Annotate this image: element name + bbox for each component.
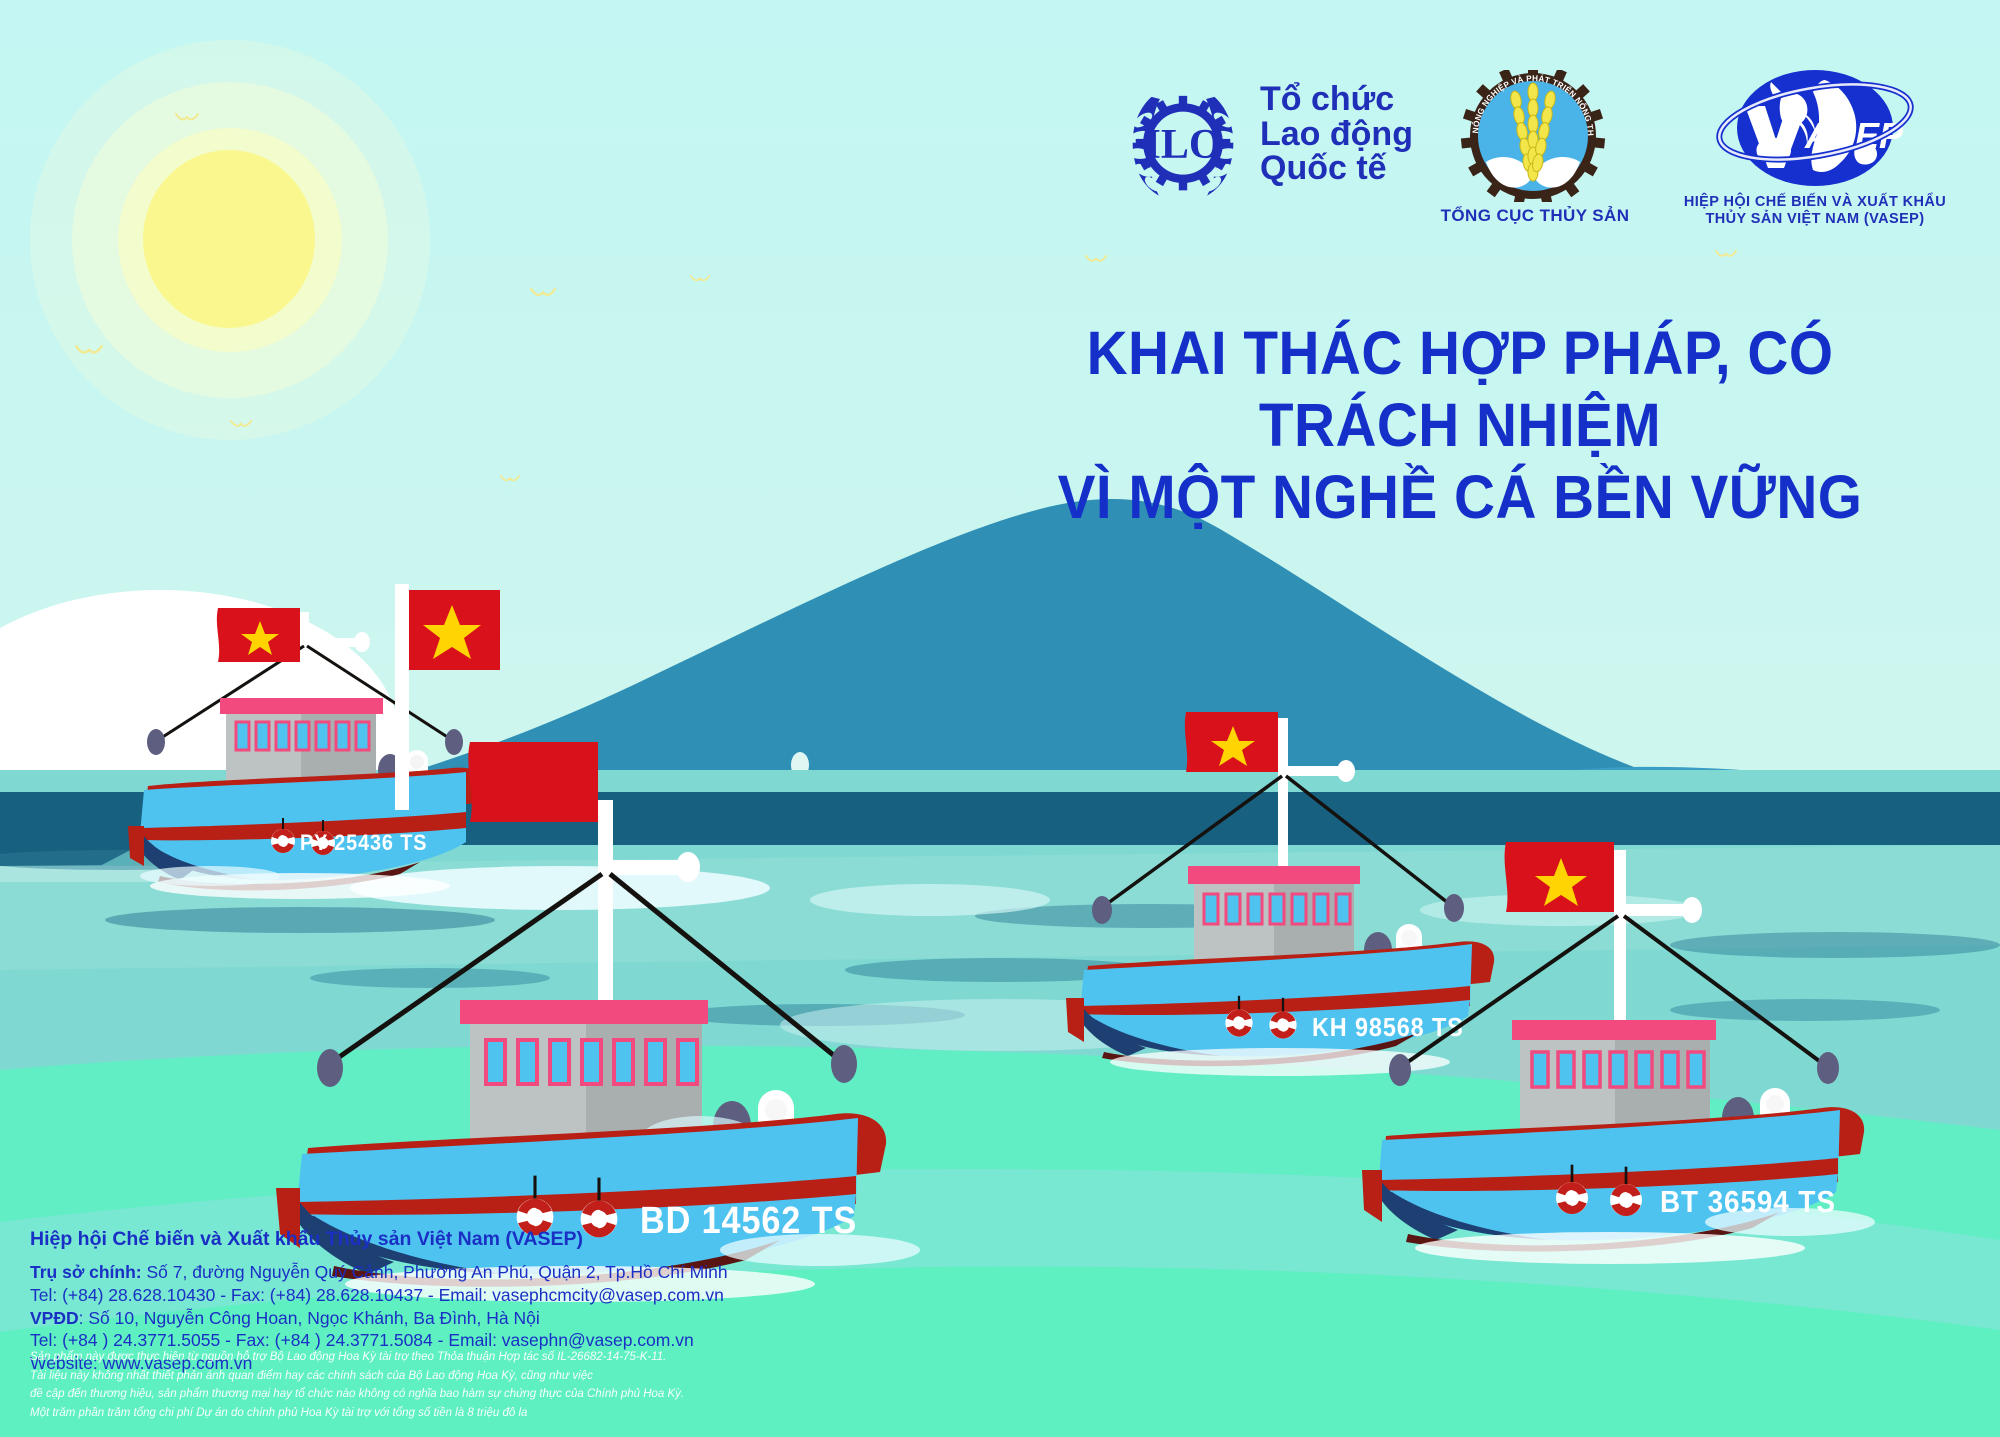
disclaimer-line-3: đề cập đến thương hiệu, sản phẩm thương … — [30, 1385, 1330, 1404]
logo-vasep-caption: HIỆP HỘI CHẾ BIẾN VÀ XUẤT KHẨU THỦY SẢN … — [1665, 194, 1965, 228]
bird-icon — [1085, 255, 1107, 266]
life-ring-icon — [1222, 1006, 1256, 1040]
logo-fisheries: BỘ NÔNG NGHIỆP VÀ PHÁT TRIỂN NÔNG THÔN T… — [1420, 70, 1650, 240]
page-title: KHAI THÁC HỢP PHÁP, CÓ TRÁCH NHIỆM VÌ MỘ… — [1032, 318, 1888, 534]
poster-canvas: ILO Tổ chức Lao động Quốc tế — [0, 0, 2000, 1437]
title-line-2: VÌ MỘT NGHỀ CÁ BỀN VỮNG — [1032, 462, 1888, 534]
logo-bar: ILO Tổ chức Lao động Quốc tế — [1120, 60, 1960, 240]
footer-hq-line: Trụ sở chính: Số 7, đường Nguyễn Quý Cản… — [30, 1261, 1280, 1284]
vasep-caption-line-2: THỦY SẢN VIỆT NAM (VASEP) — [1665, 211, 1965, 228]
fisheries-wheat-gear-icon: BỘ NÔNG NGHIỆP VÀ PHÁT TRIỂN NÔNG THÔN — [1458, 70, 1608, 202]
ilo-line-2: Lao động — [1260, 117, 1413, 152]
footer-branch-address: : Số 10, Nguyễn Công Hoan, Ngọc Khánh, B… — [79, 1308, 540, 1328]
sun-icon — [143, 150, 315, 328]
boat-registration-bt: BT 36594 TS — [1660, 1184, 1836, 1220]
life-ring-icon — [1606, 1180, 1646, 1220]
life-ring-icon — [1266, 1008, 1300, 1042]
bird-icon — [1715, 250, 1737, 261]
footer-disclaimer: Sản phẩm này được thực hiện từ nguồn hỗ … — [30, 1348, 1330, 1423]
footer-hq-address: Số 7, đường Nguyễn Quý Cảnh, Phường An P… — [147, 1262, 728, 1282]
ilo-line-1: Tổ chức — [1260, 82, 1413, 117]
footer-org-name: Hiệp hội Chế biến và Xuất khẩu Thủy sản … — [30, 1228, 1280, 1251]
vietnam-flag — [340, 580, 500, 810]
boat-bt[interactable]: BT 36594 TS — [1360, 830, 1920, 1230]
logo-vasep: ASEP HIỆP HỘI CHẾ BIẾN VÀ XUẤT KHẨU THỦY… — [1665, 66, 1965, 241]
footer-hq-contact: Tel: (+84) 28.628.10430 - Fax: (+84) 28.… — [30, 1284, 1280, 1307]
disclaimer-line-4: Một trăm phần trăm tổng chi phí Dự án do… — [30, 1404, 1330, 1423]
bird-icon — [500, 475, 520, 485]
bird-icon — [75, 345, 103, 359]
logo-fisheries-caption: TỔNG CỤC THỦY SẢN — [1420, 206, 1650, 226]
footer-branch-label: VPĐD — [30, 1308, 79, 1328]
disclaimer-line-1: Sản phẩm này được thực hiện từ nguồn hỗ … — [30, 1348, 1330, 1367]
svg-text:ILO: ILO — [1144, 122, 1221, 168]
life-ring-icon — [1552, 1178, 1592, 1218]
bird-icon — [230, 420, 252, 431]
logo-ilo-text: Tổ chức Lao động Quốc tế — [1260, 82, 1413, 186]
vasep-caption-line-1: HIỆP HỘI CHẾ BIẾN VÀ XUẤT KHẨU — [1665, 194, 1965, 211]
bird-icon — [690, 275, 710, 285]
footer-branch-line: VPĐD: Số 10, Nguyễn Công Hoan, Ngọc Khán… — [30, 1307, 1280, 1330]
disclaimer-line-2: Tài liệu này không nhất thiết phản ánh q… — [30, 1367, 1330, 1386]
vasep-globe-shrimp-icon: ASEP — [1713, 66, 1918, 191]
ilo-line-3: Quốc tế — [1260, 151, 1413, 186]
bird-icon — [175, 113, 199, 125]
bird-icon — [530, 288, 556, 301]
boat-bd[interactable]: BD 14562 TS — [280, 800, 940, 1270]
ilo-emblem-icon: ILO — [1120, 78, 1246, 204]
footer-hq-label: Trụ sở chính: — [30, 1262, 142, 1282]
title-line-1: KHAI THÁC HỢP PHÁP, CÓ TRÁCH NHIỆM — [1032, 318, 1888, 462]
